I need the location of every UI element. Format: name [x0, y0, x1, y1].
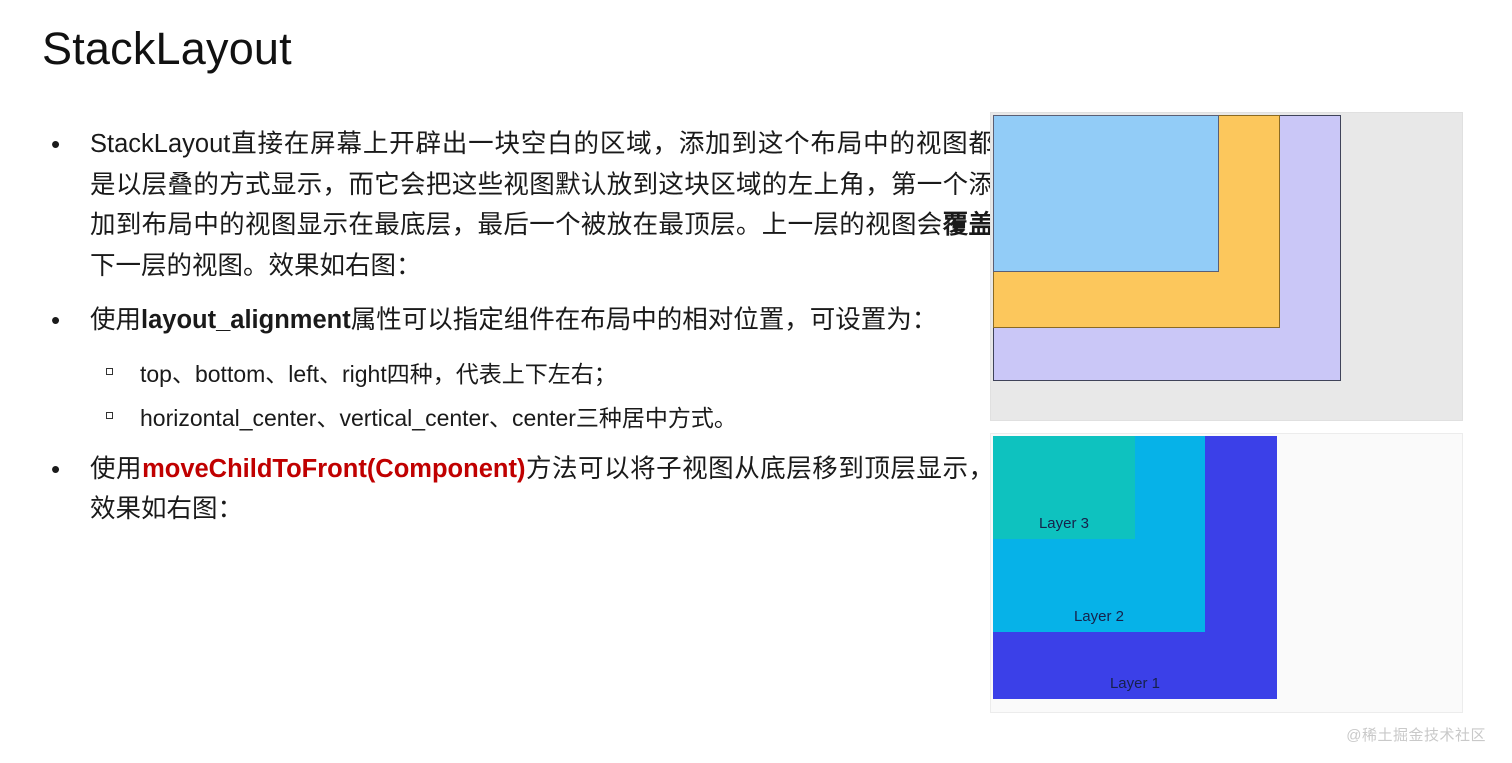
sub-bullet-list: top、bottom、left、right四种，代表上下左右； horizont… [42, 355, 994, 437]
sub-bullet-marker [42, 355, 140, 393]
sub-bullet-marker [42, 399, 140, 437]
bullet-2-seg-1-bold: layout_alignment [141, 306, 351, 334]
bullet-1-seg-2: 下一层的视图。效果如右图： [90, 252, 422, 280]
figure-movechildtofront-result: Layer 1 Layer 2 Layer 3 [990, 433, 1463, 713]
bullet-text-2: 使用layout_alignment属性可以指定组件在布局中的相对位置，可设置为… [90, 300, 994, 341]
bullet-1-seg-0: StackLayout直接在屏幕上开辟出一块空白的区域，添加到这个布局中的视图都… [90, 130, 994, 239]
bullet-text-3: 使用moveChildToFront(Component)方法可以将子视图从底层… [90, 449, 994, 530]
figure-stacklayout-default [990, 112, 1463, 421]
stack-rect-blue-top-layer [993, 115, 1219, 272]
watermark: @稀土掘金技术社区 [1346, 724, 1486, 745]
bullet-2-seg-2: 属性可以指定组件在布局中的相对位置，可设置为： [351, 306, 938, 334]
bullet-marker: • [42, 449, 90, 489]
bullet-2-seg-0: 使用 [90, 306, 141, 334]
hollow-square-icon [106, 412, 113, 419]
bullet-item-3: • 使用moveChildToFront(Component)方法可以将子视图从… [42, 449, 994, 530]
sub-bullet-item-2: horizontal_center、vertical_center、center… [42, 399, 994, 437]
layer-2-label: Layer 2 [1074, 609, 1124, 632]
bullet-marker: • [42, 124, 90, 164]
bullet-marker: • [42, 300, 90, 340]
sub-bullet-item-1: top、bottom、left、right四种，代表上下左右； [42, 355, 994, 393]
sub-bullet-text-2: horizontal_center、vertical_center、center… [140, 399, 994, 437]
bullet-item-1: • StackLayout直接在屏幕上开辟出一块空白的区域，添加到这个布局中的视… [42, 124, 994, 286]
bullet-3-seg-0: 使用 [90, 455, 142, 483]
hollow-square-icon [106, 368, 113, 375]
bullet-3-seg-1-method: moveChildToFront(Component) [142, 455, 525, 483]
bullet-item-2: • 使用layout_alignment属性可以指定组件在布局中的相对位置，可设… [42, 300, 994, 341]
layer-1-label: Layer 1 [1110, 676, 1160, 699]
layer-3-label: Layer 3 [1039, 516, 1089, 539]
bullet-1-seg-1-bold: 覆盖 [943, 211, 994, 239]
bullet-text-1: StackLayout直接在屏幕上开辟出一块空白的区域，添加到这个布局中的视图都… [90, 124, 994, 286]
layer-rect-3: Layer 3 [993, 436, 1135, 539]
page-title: StackLayout [42, 22, 292, 76]
sub-bullet-text-1: top、bottom、left、right四种，代表上下左右； [140, 355, 994, 393]
content-body: • StackLayout直接在屏幕上开辟出一块空白的区域，添加到这个布局中的视… [42, 124, 994, 544]
